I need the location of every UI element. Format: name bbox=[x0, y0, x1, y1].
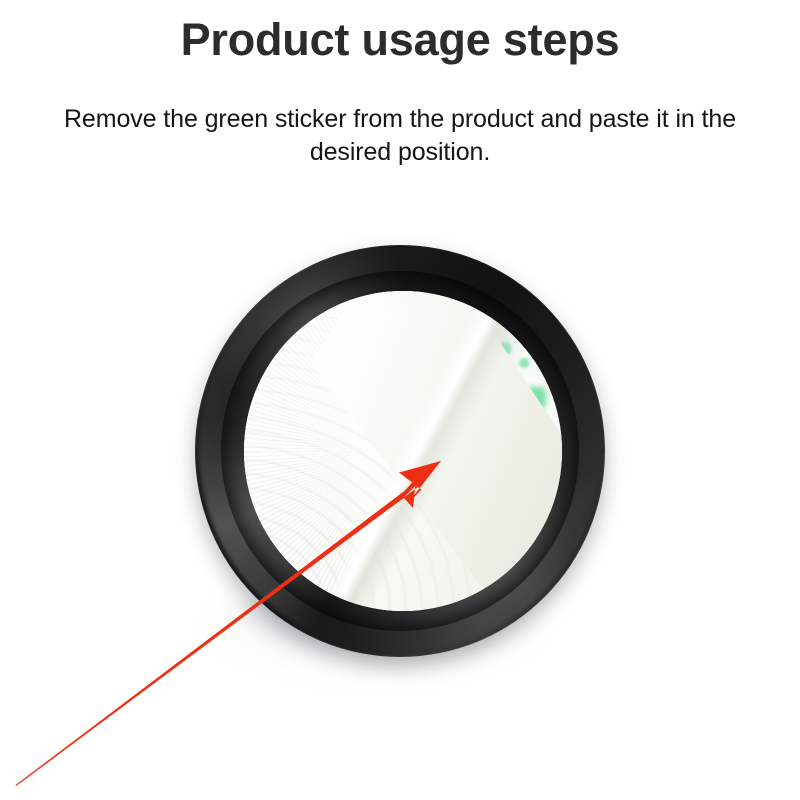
product-photo bbox=[150, 215, 660, 715]
product-disc bbox=[195, 245, 605, 657]
instruction-text: Remove the green sticker from the produc… bbox=[40, 103, 760, 170]
page-title: Product usage steps bbox=[0, 16, 800, 65]
adhesive-face bbox=[244, 291, 562, 611]
face-gloss bbox=[244, 291, 562, 611]
product-usage-steps-graphic: Product usage steps Remove the green sti… bbox=[0, 0, 800, 800]
